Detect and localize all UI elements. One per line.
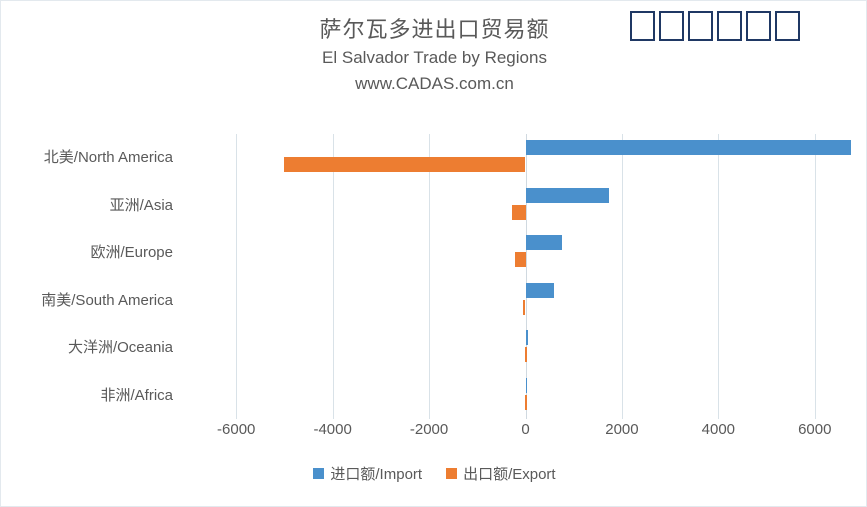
- chart-container: 萨尔瓦多进出口贸易额 El Salvador Trade by Regions …: [0, 0, 867, 507]
- legend-swatch-icon: [446, 468, 457, 479]
- chart-title-english: El Salvador Trade by Regions: [1, 45, 867, 71]
- chart-bar-group: [188, 182, 863, 230]
- bar-import[interactable]: [526, 283, 555, 298]
- legend-item-export[interactable]: 出口额/Export: [446, 463, 556, 484]
- category-axis-label: 南美/South America: [41, 277, 173, 325]
- tofu-glyph-icon: [688, 11, 713, 41]
- chart-bar-group: [188, 277, 863, 325]
- plot-area: [188, 134, 863, 419]
- category-axis-label: 非洲/Africa: [100, 372, 173, 420]
- category-axis-label: 欧洲/Europe: [90, 229, 173, 277]
- legend-swatch-icon: [313, 468, 324, 479]
- category-axis-label: 北美/North America: [44, 134, 173, 182]
- x-axis-tick-label: -6000: [217, 421, 255, 438]
- tofu-glyph-icon: [659, 11, 684, 41]
- category-axis-label: 大洋洲/Oceania: [68, 324, 173, 372]
- tofu-glyph-icon: [717, 11, 742, 41]
- tofu-box-logo-icon: [630, 11, 800, 41]
- bar-import[interactable]: [526, 235, 563, 250]
- tofu-glyph-icon: [630, 11, 655, 41]
- x-axis-tick-label: 6000: [798, 421, 831, 438]
- legend-item-import[interactable]: 进口额/Import: [313, 463, 422, 484]
- legend-label: 进口额/Import: [330, 463, 422, 484]
- chart-bar-group: [188, 372, 863, 420]
- x-axis-tick-label: 0: [521, 421, 529, 438]
- category-axis: 北美/North America亚洲/Asia欧洲/Europe南美/South…: [1, 134, 181, 419]
- tofu-glyph-icon: [746, 11, 771, 41]
- chart-bar-group: [188, 324, 863, 372]
- x-axis-tick-label: -4000: [313, 421, 351, 438]
- bar-export[interactable]: [523, 300, 525, 315]
- x-axis-tick-label: -2000: [410, 421, 448, 438]
- value-axis: -6000-4000-20000200040006000: [188, 421, 863, 445]
- bar-export[interactable]: [515, 252, 525, 267]
- bar-export[interactable]: [512, 205, 526, 220]
- category-axis-label: 亚洲/Asia: [110, 182, 173, 230]
- bar-import[interactable]: [526, 378, 528, 393]
- chart-source-url: www.CADAS.com.cn: [1, 71, 867, 97]
- bar-import[interactable]: [526, 188, 609, 203]
- bar-import[interactable]: [526, 140, 851, 155]
- bar-export[interactable]: [284, 157, 525, 172]
- chart-legend: 进口额/Import出口额/Export: [1, 463, 867, 484]
- x-axis-tick-label: 4000: [702, 421, 735, 438]
- chart-bar-group: [188, 229, 863, 277]
- legend-label: 出口额/Export: [463, 463, 556, 484]
- chart-bar-group: [188, 134, 863, 182]
- bar-export[interactable]: [525, 347, 527, 362]
- bar-export[interactable]: [525, 395, 527, 410]
- x-axis-tick-label: 2000: [605, 421, 638, 438]
- tofu-glyph-icon: [775, 11, 800, 41]
- bar-import[interactable]: [526, 330, 528, 345]
